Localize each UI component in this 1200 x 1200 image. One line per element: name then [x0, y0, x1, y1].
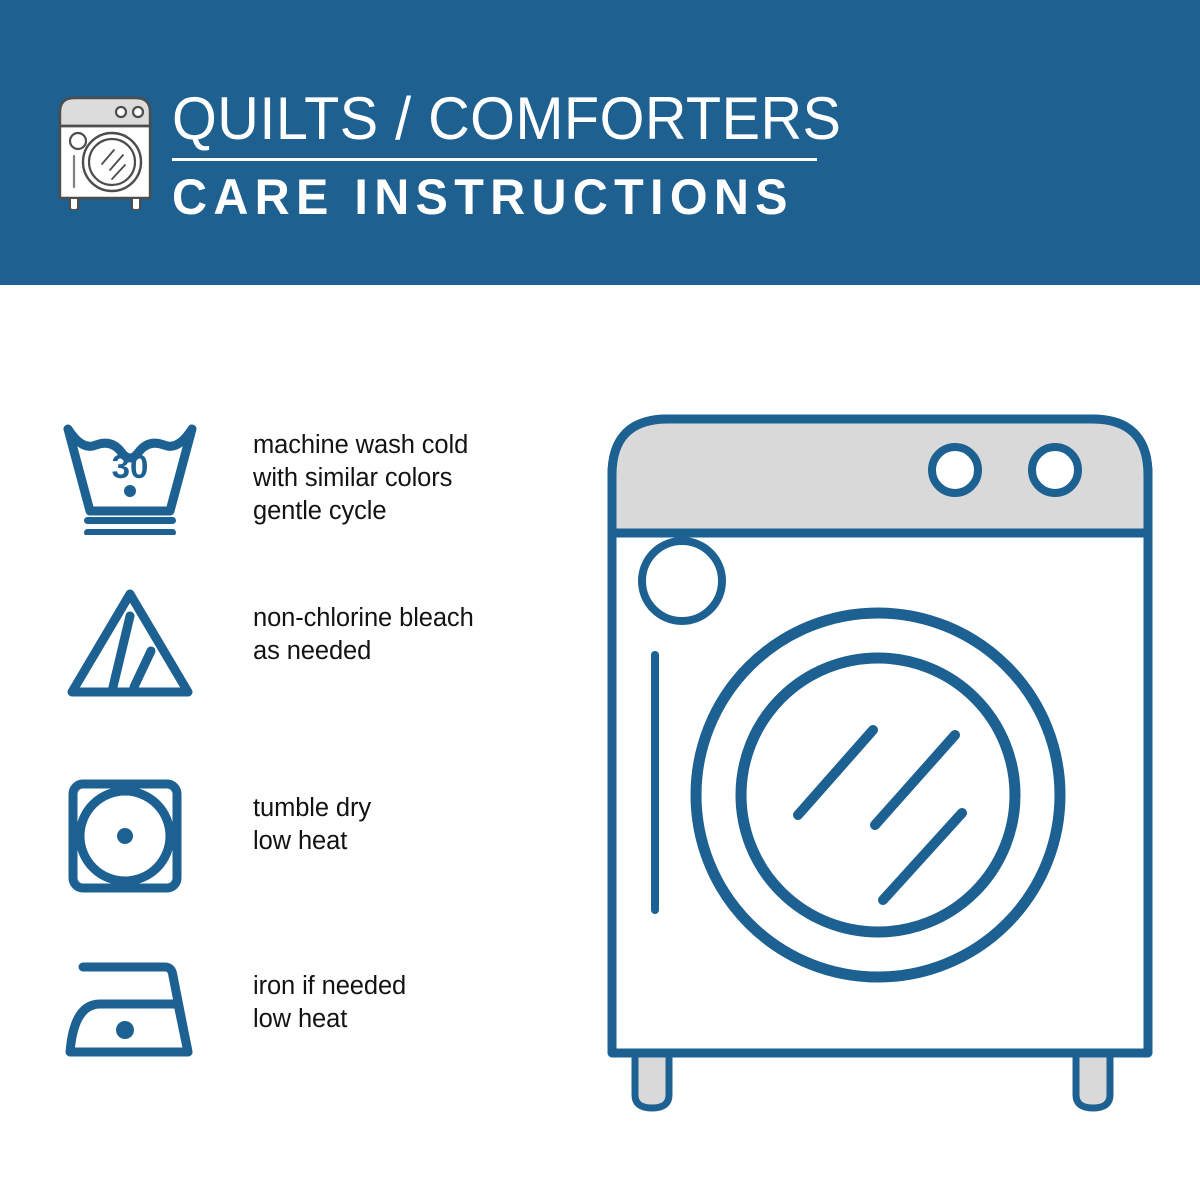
- care-line: machine wash cold: [253, 429, 533, 462]
- care-line: low heat: [253, 1003, 533, 1036]
- care-row-tumble-dry: tumble dry low heat: [0, 776, 540, 896]
- care-text-iron: iron if needed low heat: [253, 970, 533, 1036]
- header-banner: QUILTS / COMFORTERS CARE INSTRUCTIONS: [0, 0, 1200, 285]
- care-line: with similar colors: [253, 462, 533, 495]
- care-text-tumble-dry: tumble dry low heat: [253, 792, 533, 858]
- care-row-iron: iron if needed low heat: [0, 952, 540, 1072]
- page-title-secondary: CARE INSTRUCTIONS: [172, 169, 812, 225]
- drum-door-inner: [741, 658, 1015, 932]
- non-chlorine-bleach-triangle-icon: [60, 586, 200, 706]
- leg-right: [1076, 1050, 1110, 1108]
- care-row-bleach: non-chlorine bleach as needed: [0, 586, 540, 706]
- care-text-bleach: non-chlorine bleach as needed: [253, 602, 533, 668]
- care-row-machine-wash: 30 machine wash cold with similar colors…: [0, 415, 540, 535]
- wash-tub-30-gentle-icon: 30: [60, 415, 200, 535]
- care-line: as needed: [253, 635, 533, 668]
- wash-temperature-value: 30: [112, 448, 149, 485]
- care-text-machine-wash: machine wash cold with similar colors ge…: [253, 429, 533, 528]
- page-title-primary: QUILTS / COMFORTERS: [172, 86, 806, 152]
- care-line: gentle cycle: [253, 495, 533, 528]
- leg-left: [635, 1050, 669, 1108]
- care-line: non-chlorine bleach: [253, 602, 533, 635]
- infographic-page: QUILTS / COMFORTERS CARE INSTRUCTIONS 30: [0, 0, 1200, 1200]
- knob-left: [932, 447, 978, 493]
- care-line: tumble dry: [253, 792, 533, 825]
- washing-machine-icon: [50, 82, 160, 210]
- header-title-group: QUILTS / COMFORTERS CARE INSTRUCTIONS: [172, 86, 832, 225]
- title-divider: [172, 158, 817, 161]
- detergent-dial: [642, 541, 722, 621]
- care-line: low heat: [253, 825, 533, 858]
- knob-right: [1032, 447, 1078, 493]
- care-line: iron if needed: [253, 970, 533, 1003]
- tumble-dry-low-heat-icon: [60, 776, 200, 896]
- front-load-washing-machine-illustration: [600, 405, 1160, 1115]
- iron-low-heat-icon: [60, 952, 200, 1072]
